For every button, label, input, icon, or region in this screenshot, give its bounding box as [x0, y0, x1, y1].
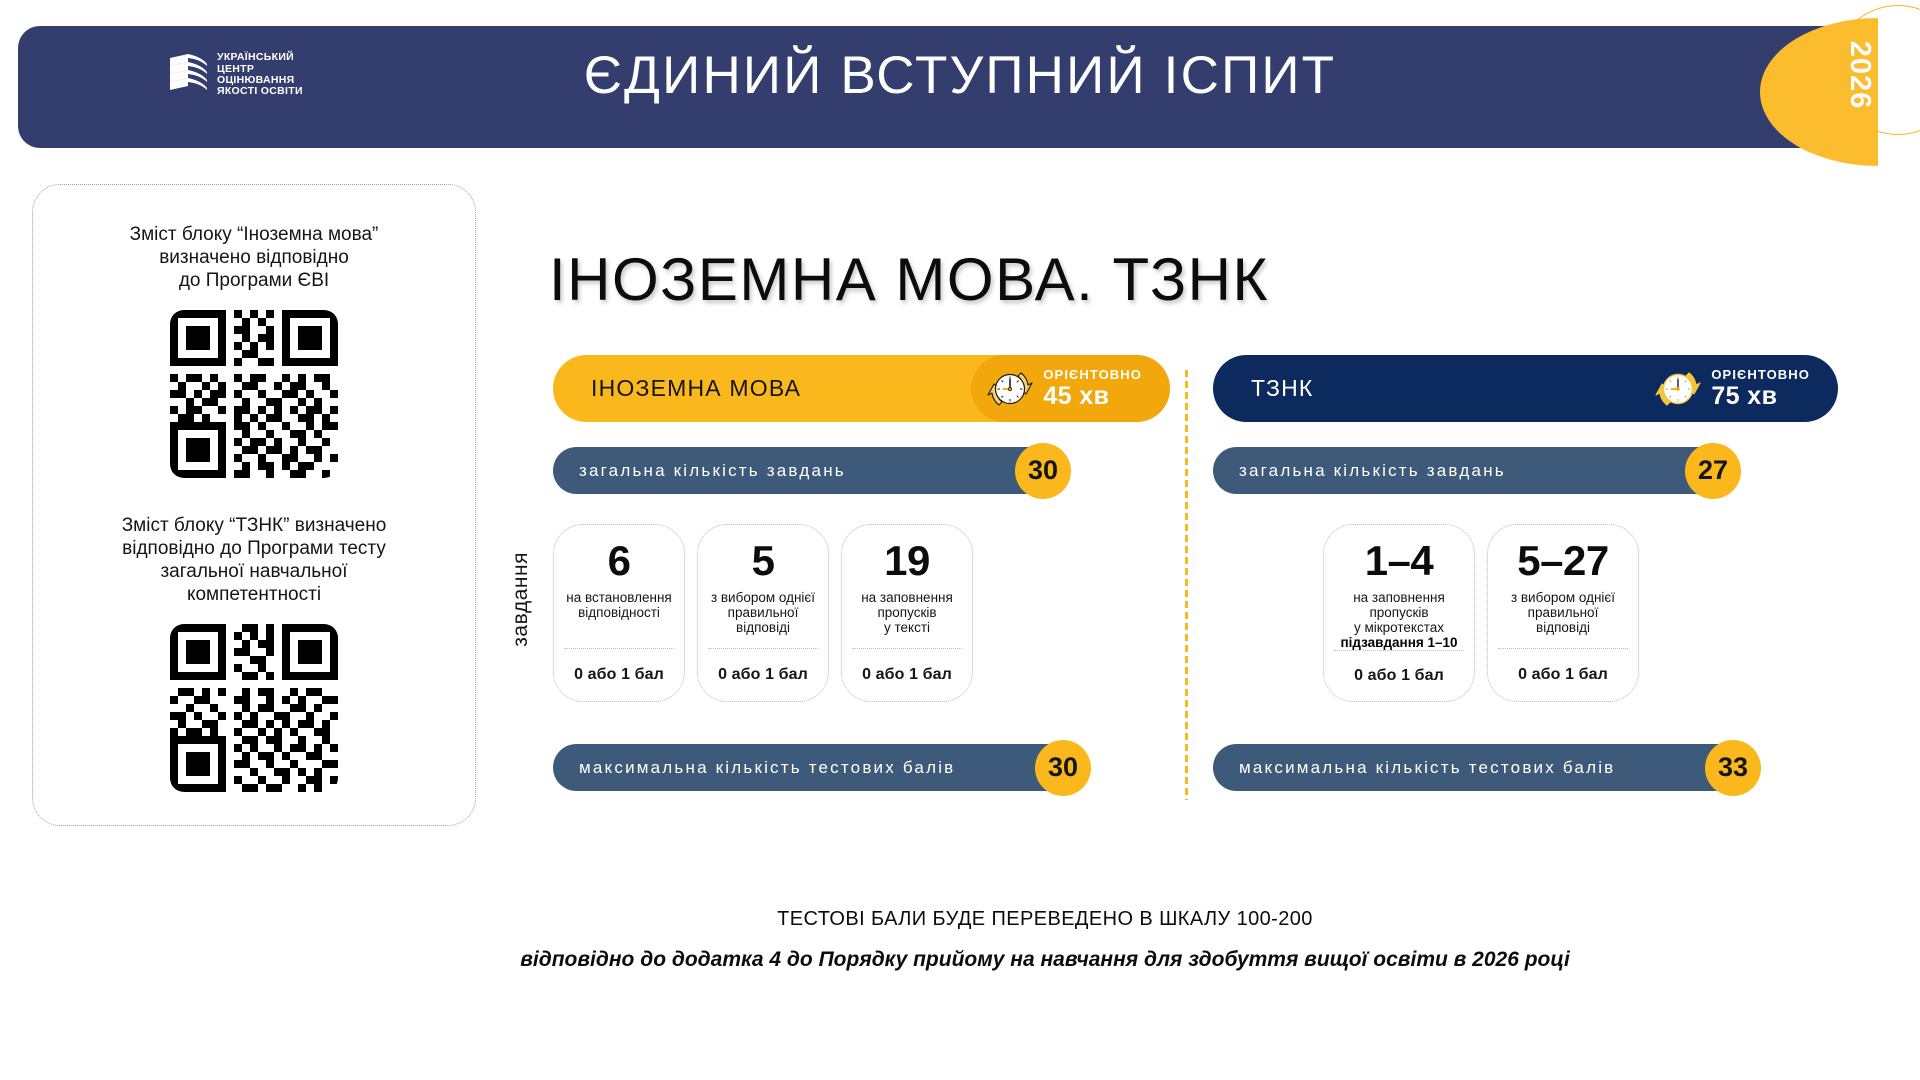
duration-text: ОРІЄНТОВНО 45 хв: [1043, 368, 1142, 410]
task-card-description: з вибором однієї правильної відповіді: [1511, 590, 1615, 635]
footer-line-1: ТЕСТОВІ БАЛИ БУДЕ ПЕРЕВЕДЕНО В ШКАЛУ 100…: [0, 908, 1920, 931]
column-divider: [1185, 370, 1188, 800]
sidebar-notes-panel: Зміст блоку “Іноземна мова” визначено ві…: [32, 184, 476, 826]
task-card: 5 з вибором однієї правильної відповіді …: [697, 524, 829, 702]
page-title: ЄДИНИЙ ВСТУПНИЙ ІСПИТ: [0, 45, 1920, 106]
qr-code-program-evi[interactable]: [170, 310, 338, 478]
max-score-label: максимальна кількість тестових балів: [553, 758, 955, 778]
task-card: 5–27 з вибором однієї правильної відпові…: [1487, 524, 1639, 702]
total-tasks-label: загальна кількість завдань: [1213, 461, 1506, 481]
duration-value: 45 хв: [1043, 383, 1142, 409]
year-badge: 2026: [1815, 15, 1905, 135]
task-card: 1–4 на заповнення пропусків у мікротекст…: [1323, 524, 1475, 702]
clock-icon: [1655, 366, 1701, 412]
max-score-bar-foreign-language: максимальна кількість тестових балів 30: [553, 744, 1083, 791]
task-card: 6 на встановлення відповідності 0 або 1 …: [553, 524, 685, 702]
task-card-description: на заповнення пропусків у мікротекстах: [1353, 590, 1445, 635]
task-card-number: 1–4: [1365, 539, 1434, 584]
task-card-score: 0 або 1 бал: [1518, 649, 1608, 701]
task-card-description: на заповнення пропусків у тексті: [861, 590, 953, 635]
task-card-number: 6: [608, 539, 631, 584]
total-tasks-label: загальна кількість завдань: [553, 461, 846, 481]
subject-pill-foreign-language: ІНОЗЕМНА МОВА: [553, 355, 1170, 422]
subject-pill-tznk: ТЗНК: [1213, 355, 1838, 422]
task-card-description: з вибором однієї правильної відповіді: [711, 590, 815, 635]
task-card-number: 5: [752, 539, 775, 584]
total-tasks-value: 27: [1685, 443, 1741, 499]
footer-line-2: відповідно до додатка 4 до Порядку прийо…: [0, 948, 1920, 972]
task-card-score: 0 або 1 бал: [1354, 651, 1444, 701]
task-card-number: 19: [884, 539, 930, 584]
task-card-score: 0 або 1 бал: [574, 649, 664, 701]
task-card: 19 на заповнення пропусків у тексті 0 аб…: [841, 524, 973, 702]
max-score-value: 33: [1705, 740, 1761, 796]
duration-chip-foreign-language: ОРІЄНТОВНО 45 хв: [971, 355, 1170, 422]
task-cards-foreign-language: завдання 6 на встановлення відповідності…: [553, 524, 1170, 702]
total-tasks-value: 30: [1015, 443, 1071, 499]
section-title: ІНОЗЕМНА МОВА. ТЗНК: [549, 245, 1269, 314]
max-score-label: максимальна кількість тестових балів: [1213, 758, 1615, 778]
max-score-value: 30: [1035, 740, 1091, 796]
subject-label: ІНОЗЕМНА МОВА: [553, 375, 801, 402]
task-card-subtask: підзавдання 1–10: [1340, 635, 1457, 650]
duration-value: 75 хв: [1711, 383, 1810, 409]
task-card-score: 0 або 1 бал: [718, 649, 808, 701]
tasks-axis-label: завдання: [509, 552, 533, 647]
sidebar-note-1: Зміст блоку “Іноземна мова” визначено ві…: [54, 223, 454, 292]
task-card-number: 5–27: [1517, 539, 1608, 584]
task-card-score: 0 або 1 бал: [862, 649, 952, 701]
column-tznk: ТЗНК: [1213, 355, 1838, 791]
duration-chip-tznk: ОРІЄНТОВНО 75 хв: [1639, 355, 1838, 422]
duration-text: ОРІЄНТОВНО 75 хв: [1711, 368, 1810, 410]
duration-approx-label: ОРІЄНТОВНО: [1043, 368, 1142, 382]
column-foreign-language: ІНОЗЕМНА МОВА: [553, 355, 1170, 791]
total-tasks-bar-tznk: загальна кількість завдань 27: [1213, 447, 1733, 494]
task-card-description: на встановлення відповідності: [566, 590, 671, 620]
infographic-root: УКРАЇНСЬКИЙ ЦЕНТР ОЦІНЮВАННЯ ЯКОСТІ ОСВІ…: [0, 0, 1920, 1080]
qr-code-program-tznk[interactable]: [170, 624, 338, 792]
total-tasks-bar-foreign-language: загальна кількість завдань 30: [553, 447, 1063, 494]
max-score-bar-tznk: максимальна кількість тестових балів 33: [1213, 744, 1753, 791]
subject-label: ТЗНК: [1213, 375, 1314, 402]
clock-icon: [987, 366, 1033, 412]
duration-approx-label: ОРІЄНТОВНО: [1711, 368, 1810, 382]
task-cards-tznk: 1–4 на заповнення пропусків у мікротекст…: [1323, 524, 1838, 702]
sidebar-note-2: Зміст блоку “ТЗНК” визначено відповідно …: [54, 514, 454, 606]
